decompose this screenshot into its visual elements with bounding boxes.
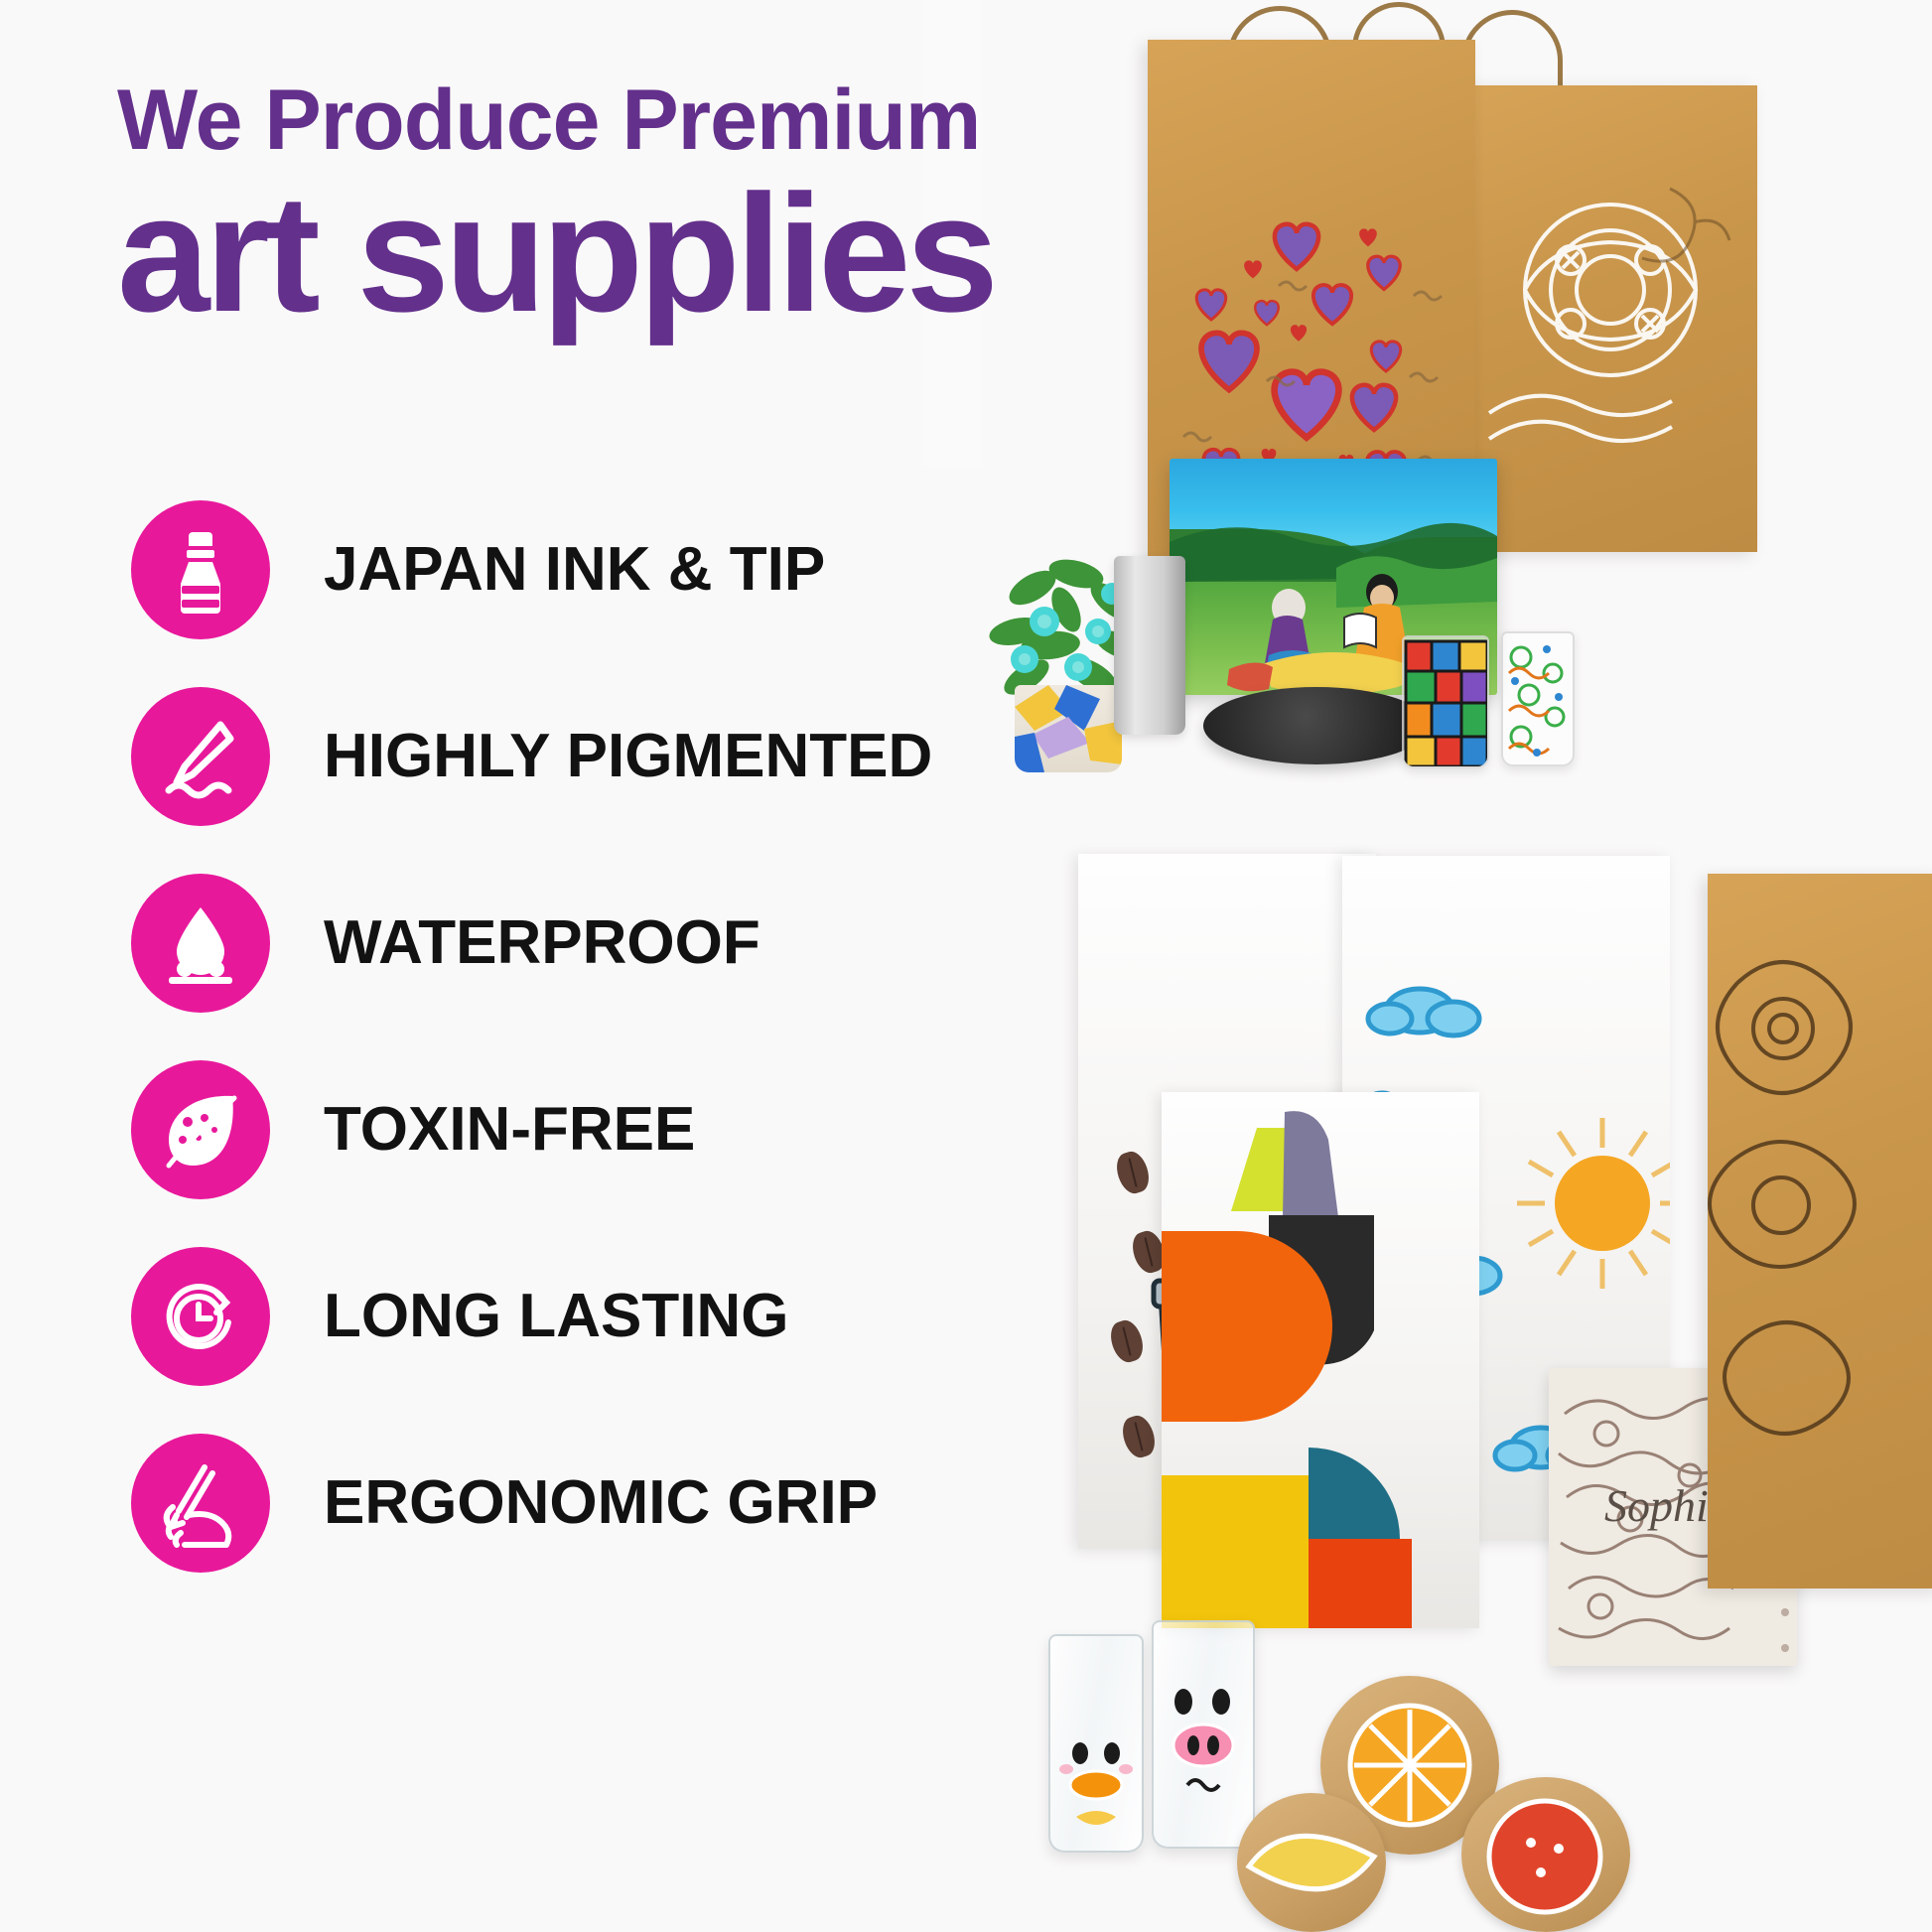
metal-cup (1114, 556, 1185, 735)
headline-block: We Produce Premium art supplies (117, 77, 1070, 339)
headline-line-1: We Produce Premium (117, 77, 1070, 163)
patterned-jar (1501, 631, 1575, 766)
leaf-icon (131, 1060, 270, 1199)
black-plate (1203, 687, 1430, 764)
feature-list: JAPAN INK & TIP HIGHLY PIGMENTED (131, 494, 932, 1614)
feature-item-highly-pigmented: HIGHLY PIGMENTED (131, 681, 932, 832)
feature-item-ergonomic-grip: ERGONOMIC GRIP (131, 1428, 932, 1579)
feature-label: ERGONOMIC GRIP (324, 1472, 878, 1534)
product-photo-collage: Sophia (953, 0, 1932, 1932)
poster-canvas: Sophia (0, 0, 1932, 1932)
wooden-citrus-coasters (1461, 1777, 1630, 1932)
feature-item-long-lasting: LONG LASTING (131, 1241, 932, 1392)
feature-label: WATERPROOF (324, 912, 760, 974)
marker-bottle-icon (131, 500, 270, 639)
wooden-citrus-coasters (1237, 1793, 1386, 1932)
clock-refresh-icon (131, 1247, 270, 1386)
mosaic-jar (1402, 635, 1489, 768)
hand-grip-pen-icon (131, 1434, 270, 1573)
kraft-gift-bag-mandala (1708, 874, 1932, 1588)
feature-label: TOXIN-FREE (324, 1099, 695, 1161)
feature-label: LONG LASTING (324, 1286, 788, 1347)
gift-bag-handle (1461, 10, 1563, 96)
pig-face-glass (1152, 1620, 1255, 1849)
feature-item-waterproof: WATERPROOF (131, 868, 932, 1019)
feature-item-toxin-free: TOXIN-FREE (131, 1054, 932, 1205)
canvas-tote-geometric (1162, 1092, 1479, 1628)
water-droplet-icon (131, 874, 270, 1013)
feature-item-japan-ink-tip: JAPAN INK & TIP (131, 494, 932, 645)
feature-label: JAPAN INK & TIP (324, 539, 825, 601)
marker-stroke-icon (131, 687, 270, 826)
kraft-gift-bag-mandala (1459, 85, 1757, 552)
duck-face-glass (1048, 1634, 1144, 1853)
feature-label: HIGHLY PIGMENTED (324, 726, 932, 787)
page-title: art supplies (117, 169, 1070, 339)
